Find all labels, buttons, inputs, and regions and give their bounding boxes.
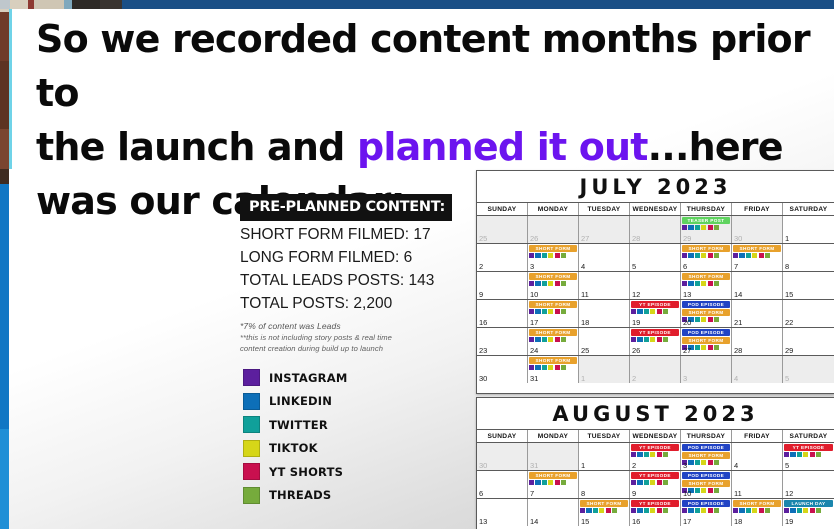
day-number: 30 — [479, 374, 487, 383]
day-number: 1 — [581, 374, 585, 383]
platform-dot — [631, 309, 636, 314]
platform-dot — [555, 480, 560, 485]
calendar-day-cell[interactable]: 6 — [477, 471, 528, 498]
platform-dot — [784, 452, 789, 457]
platform-dot — [714, 317, 719, 322]
calendar-day-cell[interactable]: SHORT FORM13 — [681, 272, 732, 299]
platform-dot — [637, 508, 642, 513]
platform-dot — [759, 508, 764, 513]
platform-dot — [708, 317, 713, 322]
day-number: 3 — [683, 461, 687, 470]
day-number: 16 — [479, 318, 487, 327]
calendar-day-cell[interactable]: YT EPISODE9 — [630, 471, 681, 498]
calendar-day-cell[interactable]: 12 — [783, 471, 834, 498]
platform-dot — [637, 452, 642, 457]
platform-dot — [701, 488, 706, 493]
calendar-week-row: 23SHORT FORM2425YT EPISODE26POD EPISODES… — [477, 328, 834, 356]
platform-dot — [695, 460, 700, 465]
calendar-day-cell[interactable]: 30 — [732, 216, 783, 243]
platform-dot — [593, 508, 598, 513]
headline-line-1: So we recorded content months prior to — [36, 17, 810, 115]
platform-dot-row — [682, 281, 730, 286]
calendar-day-cell[interactable]: SHORT FORM3 — [528, 244, 579, 271]
platform-dot — [701, 317, 706, 322]
platform-dot — [612, 508, 617, 513]
platform-dot — [708, 460, 713, 465]
platform-dot — [555, 309, 560, 314]
platform-dot — [688, 253, 693, 258]
platform-dot — [535, 253, 540, 258]
calendar-day-cell[interactable]: 14 — [528, 499, 579, 526]
platform-dot — [644, 508, 649, 513]
calendar-day-cell[interactable]: 5 — [630, 244, 681, 271]
platform-dot — [631, 337, 636, 342]
platform-dot — [682, 253, 687, 258]
stat-line: TOTAL LEADS POSTS: 143 — [240, 272, 452, 290]
platform-dot — [555, 365, 560, 370]
platform-dot — [535, 337, 540, 342]
platform-dot — [561, 309, 566, 314]
platform-dot — [765, 508, 770, 513]
legend-item-linkedin: LINKEDIN — [243, 390, 347, 414]
day-number: 5 — [632, 262, 636, 271]
calendar-day-cell[interactable]: 28 — [732, 328, 783, 355]
day-number: 28 — [632, 234, 640, 243]
legend-color-swatch — [243, 393, 260, 410]
stat-line: LONG FORM FILMED: 6 — [240, 249, 452, 267]
day-number: 17 — [530, 318, 538, 327]
platform-dot-row — [784, 452, 833, 457]
platform-dot — [561, 480, 566, 485]
day-number: 7 — [530, 489, 534, 498]
calendar-day-cell[interactable]: YT EPISODE26 — [630, 328, 681, 355]
platform-dot — [637, 337, 642, 342]
day-number: 1 — [785, 234, 789, 243]
calendar-day-cell[interactable]: 25 — [579, 328, 630, 355]
calendar-day-cell[interactable]: 21 — [732, 300, 783, 327]
platform-dot — [695, 253, 700, 258]
platform-dot-row — [682, 460, 730, 465]
day-number: 15 — [581, 517, 589, 526]
calendar-day-cell[interactable]: 26 — [528, 216, 579, 243]
platform-dot — [555, 337, 560, 342]
calendar-day-cell[interactable]: SHORT FORM15 — [579, 499, 630, 526]
platform-dot — [637, 309, 642, 314]
day-number: 13 — [683, 290, 691, 299]
calendar-day-cell[interactable]: 30 — [477, 356, 528, 383]
platform-dot — [701, 460, 706, 465]
calendar-day-cell[interactable]: SHORT FORM31 — [528, 356, 579, 383]
platform-dot — [708, 488, 713, 493]
platform-dot — [682, 281, 687, 286]
platform-dot — [529, 253, 534, 258]
stat-line: SHORT FORM FILMED: 17 — [240, 226, 452, 244]
platform-dot — [688, 281, 693, 286]
platform-dot — [644, 337, 649, 342]
event-badge[interactable]: SHORT FORM — [529, 273, 577, 280]
day-number: 8 — [581, 489, 585, 498]
platform-dot — [663, 337, 668, 342]
platform-dot-row — [580, 508, 628, 513]
platform-dot — [701, 253, 706, 258]
day-number: 24 — [530, 346, 538, 355]
platform-dot — [637, 480, 642, 485]
legend-item-yt-shorts: YT SHORTS — [243, 460, 347, 484]
event-badge[interactable]: SHORT FORM — [682, 245, 730, 252]
calendar-day-cell[interactable]: 1 — [579, 356, 630, 383]
calendar-day-cell[interactable]: 13 — [477, 499, 528, 526]
platform-dot — [663, 508, 668, 513]
event-badge[interactable]: POD EPISODE — [682, 329, 730, 336]
calendar-day-cell[interactable]: 12 — [630, 272, 681, 299]
platform-dot — [606, 508, 611, 513]
platform-dot — [580, 508, 585, 513]
event-badge[interactable]: SHORT FORM — [529, 357, 577, 364]
calendar-day-cell[interactable]: 29 — [783, 328, 834, 355]
platform-dot — [657, 480, 662, 485]
platform-dot — [650, 508, 655, 513]
platform-dot — [586, 508, 591, 513]
calendar-day-cell[interactable]: 25 — [477, 216, 528, 243]
footnote: *7% of content was Leads — [240, 321, 452, 332]
event-badge[interactable]: SHORT FORM — [529, 472, 577, 479]
day-number: 27 — [581, 234, 589, 243]
legend-item-label: INSTAGRAM — [269, 371, 347, 385]
legend-item-label: LINKEDIN — [269, 394, 332, 408]
stat-line: TOTAL POSTS: 2,200 — [240, 295, 452, 313]
calendar-day-cell[interactable]: TEASER POST29 — [681, 216, 732, 243]
platform-dot — [650, 337, 655, 342]
calendar-day-cell[interactable]: SHORT FORM7 — [732, 244, 783, 271]
event-badge[interactable]: YT EPISODE — [631, 329, 679, 336]
platform-dot — [701, 508, 706, 513]
day-number: 29 — [683, 234, 691, 243]
platform-dot — [529, 365, 534, 370]
calendar-august: AUGUST 2023 SUNDAYMONDAYTUESDAYWEDNESDAY… — [476, 397, 834, 529]
platform-dot-row — [529, 337, 577, 342]
platform-dot — [714, 345, 719, 350]
event-badge[interactable]: POD EPISODE — [682, 301, 730, 308]
legend-item-instagram: INSTAGRAM — [243, 366, 347, 390]
platform-dot — [561, 253, 566, 258]
legend-item-threads: THREADS — [243, 484, 347, 508]
event-badge[interactable]: SHORT FORM — [682, 337, 730, 344]
platform-dot-row — [631, 452, 679, 457]
event-badge[interactable]: POD EPISODE — [682, 444, 730, 451]
event-badge[interactable]: YT EPISODE — [631, 444, 679, 451]
calendar-day-cell[interactable]: 18 — [579, 300, 630, 327]
calendar-august-dow-row: SUNDAYMONDAYTUESDAYWEDNESDAYTHURSDAYFRID… — [477, 430, 834, 443]
day-number: 2 — [632, 461, 636, 470]
calendar-week-row: 16SHORT FORM1718YT EPISODE19POD EPISODES… — [477, 300, 834, 328]
platform-dot — [759, 253, 764, 258]
calendar-day-cell[interactable]: SHORT FORM10 — [528, 272, 579, 299]
platform-dot — [548, 281, 553, 286]
platform-dot — [548, 309, 553, 314]
calendar-day-cell[interactable]: YT EPISODE2 — [630, 443, 681, 470]
platform-dot — [529, 480, 534, 485]
calendar-day-cell[interactable]: 2 — [477, 244, 528, 271]
platform-dot — [714, 253, 719, 258]
platform-dot — [739, 253, 744, 258]
calendar-day-cell[interactable]: YT EPISODE16 — [630, 499, 681, 526]
calendar-day-cell[interactable]: POD EPISODESHORT FORM10 — [681, 471, 732, 498]
column-header-wednesday: WEDNESDAY — [630, 430, 681, 442]
day-number: 5 — [785, 461, 789, 470]
day-number: 20 — [683, 318, 691, 327]
calendar-day-cell[interactable]: LAUNCH DAY19 — [783, 499, 834, 526]
platform-dot — [542, 337, 547, 342]
platform-dot — [816, 452, 821, 457]
calendar-day-cell[interactable]: 22 — [783, 300, 834, 327]
event-badge[interactable]: LAUNCH DAY — [784, 500, 833, 507]
calendar-day-cell[interactable]: 11 — [732, 471, 783, 498]
calendar-july: JULY 2023 SUNDAYMONDAYTUESDAYWEDNESDAYTH… — [476, 170, 834, 394]
platform-dot — [688, 508, 693, 513]
platform-dot — [561, 365, 566, 370]
platform-dot — [529, 337, 534, 342]
calendar-day-cell[interactable]: 4 — [579, 244, 630, 271]
platform-dot — [790, 508, 795, 513]
calendar-day-cell[interactable]: 5 — [783, 356, 834, 383]
column-header-thursday: THURSDAY — [681, 203, 732, 215]
platform-dot — [765, 253, 770, 258]
platform-dot — [599, 508, 604, 513]
platform-dot — [644, 309, 649, 314]
event-badge[interactable]: YT EPISODE — [784, 444, 833, 451]
event-badge[interactable]: POD EPISODE — [682, 472, 730, 479]
day-number: 25 — [581, 346, 589, 355]
calendar-week-row: 6SHORT FORM78YT EPISODE9POD EPISODESHORT… — [477, 471, 834, 499]
calendar-day-cell[interactable]: YT EPISODE5 — [783, 443, 834, 470]
event-badge[interactable]: SHORT FORM — [682, 309, 730, 316]
calendar-day-cell[interactable]: 31 — [528, 443, 579, 470]
platform-dot-row — [733, 253, 781, 258]
platform-dot — [650, 480, 655, 485]
calendar-day-cell[interactable]: SHORT FORM17 — [528, 300, 579, 327]
platform-dot — [708, 345, 713, 350]
platform-dot — [803, 452, 808, 457]
platform-dot — [746, 253, 751, 258]
platform-dot — [548, 253, 553, 258]
platform-dot — [548, 365, 553, 370]
platform-dot — [535, 309, 540, 314]
calendar-day-cell[interactable]: 23 — [477, 328, 528, 355]
calendar-day-cell[interactable]: SHORT FORM24 — [528, 328, 579, 355]
platform-dot — [631, 452, 636, 457]
column-header-saturday: SATURDAY — [783, 203, 834, 215]
platform-dot — [688, 225, 693, 230]
event-badge[interactable]: YT EPISODE — [631, 301, 679, 308]
legend-color-swatch — [243, 487, 260, 504]
platform-dot — [535, 365, 540, 370]
platform-dot — [657, 508, 662, 513]
day-number: 8 — [785, 262, 789, 271]
platform-dot-row — [682, 253, 730, 258]
day-number: 4 — [734, 461, 738, 470]
headline-accent-phrase: planned it out — [357, 125, 648, 169]
legend-color-swatch — [243, 416, 260, 433]
platform-dot — [682, 508, 687, 513]
event-badge[interactable]: SHORT FORM — [733, 245, 781, 252]
platform-dot — [784, 508, 789, 513]
stats-footnotes: *7% of content was Leads**this is not in… — [240, 321, 452, 354]
platform-dot — [708, 253, 713, 258]
calendar-day-cell[interactable]: 27 — [579, 216, 630, 243]
event-badge[interactable]: SHORT FORM — [529, 301, 577, 308]
calendar-day-cell[interactable]: 4 — [732, 356, 783, 383]
calendar-july-title: JULY 2023 — [477, 171, 834, 203]
calendar-week-row: 30311YT EPISODE2POD EPISODESHORT FORM34Y… — [477, 443, 834, 471]
platform-dot — [650, 309, 655, 314]
platform-dot-row — [631, 309, 679, 314]
event-badge[interactable]: SHORT FORM — [529, 245, 577, 252]
calendar-day-cell[interactable]: 11 — [579, 272, 630, 299]
calendar-day-cell[interactable]: SHORT FORM6 — [681, 244, 732, 271]
calendar-day-cell[interactable]: 9 — [477, 272, 528, 299]
platform-dot — [816, 508, 821, 513]
calendar-july-dow-row: SUNDAYMONDAYTUESDAYWEDNESDAYTHURSDAYFRID… — [477, 203, 834, 216]
day-number: 10 — [530, 290, 538, 299]
left-edge-accent-line — [9, 9, 12, 169]
event-badge[interactable]: YT EPISODE — [631, 472, 679, 479]
calendar-day-cell[interactable]: SHORT FORM7 — [528, 471, 579, 498]
pre-planned-content-panel: PRE-PLANNED CONTENT: SHORT FORM FILMED: … — [240, 194, 452, 354]
calendar-day-cell[interactable]: 1 — [579, 443, 630, 470]
calendar-day-cell[interactable]: 8 — [579, 471, 630, 498]
platform-dot — [644, 480, 649, 485]
platform-dot-row — [631, 480, 679, 485]
day-number: 21 — [734, 318, 742, 327]
day-number: 23 — [479, 346, 487, 355]
platform-dot — [555, 281, 560, 286]
platform-dot — [650, 452, 655, 457]
platform-dot — [695, 488, 700, 493]
calendar-day-cell[interactable]: 3 — [681, 356, 732, 383]
event-badge[interactable]: SHORT FORM — [580, 500, 628, 507]
day-number: 18 — [734, 517, 742, 526]
platform-dot-row — [682, 225, 730, 230]
event-badge[interactable]: SHORT FORM — [682, 452, 730, 459]
calendar-day-cell[interactable]: 8 — [783, 244, 834, 271]
calendar-august-weeks: 30311YT EPISODE2POD EPISODESHORT FORM34Y… — [477, 443, 834, 526]
calendar-day-cell[interactable]: SHORT FORM18 — [732, 499, 783, 526]
platform-dot — [695, 225, 700, 230]
platform-dot — [701, 225, 706, 230]
legend-item-label: YT SHORTS — [269, 465, 343, 479]
day-number: 5 — [785, 374, 789, 383]
day-number: 4 — [734, 374, 738, 383]
platform-dot — [657, 309, 662, 314]
calendar-day-cell[interactable]: 16 — [477, 300, 528, 327]
platform-legend: INSTAGRAMLINKEDINTWITTERTIKTOKYT SHORTST… — [243, 366, 347, 507]
window-top-edge-strip — [0, 0, 834, 9]
calendar-day-cell[interactable]: POD EPISODE17 — [681, 499, 732, 526]
platform-dot — [695, 317, 700, 322]
platform-dot — [542, 480, 547, 485]
platform-dot — [701, 281, 706, 286]
platform-dot-row — [529, 365, 577, 370]
platform-dot — [657, 337, 662, 342]
day-number: 28 — [734, 346, 742, 355]
platform-dot — [746, 508, 751, 513]
calendar-day-cell[interactable]: 15 — [783, 272, 834, 299]
platform-dot — [561, 337, 566, 342]
platform-dot — [695, 281, 700, 286]
platform-dot — [663, 309, 668, 314]
platform-dot — [752, 253, 757, 258]
day-number: 17 — [683, 517, 691, 526]
platform-dot — [733, 253, 738, 258]
event-badge[interactable]: POD EPISODE — [682, 500, 730, 507]
platform-dot — [644, 452, 649, 457]
column-header-monday: MONDAY — [528, 203, 579, 215]
event-badge[interactable]: YT EPISODE — [631, 500, 679, 507]
calendar-day-cell[interactable]: 30 — [477, 443, 528, 470]
day-number: 26 — [530, 234, 538, 243]
legend-color-swatch — [243, 440, 260, 457]
calendar-day-cell[interactable]: YT EPISODE19 — [630, 300, 681, 327]
day-number: 22 — [785, 318, 793, 327]
day-number: 19 — [785, 517, 793, 526]
platform-dot — [810, 508, 815, 513]
day-number: 14 — [530, 517, 538, 526]
day-number: 14 — [734, 290, 742, 299]
calendar-day-cell[interactable]: 1 — [783, 216, 834, 243]
day-number: 15 — [785, 290, 793, 299]
calendar-day-cell[interactable]: POD EPISODESHORT FORM20 — [681, 300, 732, 327]
platform-dot — [631, 508, 636, 513]
day-number: 19 — [632, 318, 640, 327]
event-badge[interactable]: SHORT FORM — [682, 480, 730, 487]
platform-dot-row — [682, 508, 730, 513]
top-thumbnail-strip — [0, 0, 122, 9]
column-header-sunday: SUNDAY — [477, 203, 528, 215]
calendar-week-row: 2SHORT FORM345SHORT FORM6SHORT FORM78 — [477, 244, 834, 272]
calendar-day-cell[interactable]: POD EPISODESHORT FORM27 — [681, 328, 732, 355]
column-header-saturday: SATURDAY — [783, 430, 834, 442]
platform-dot — [708, 281, 713, 286]
legend-item-label: TIKTOK — [269, 441, 318, 455]
event-badge[interactable]: TEASER POST — [682, 217, 730, 224]
platform-dot — [542, 253, 547, 258]
event-badge[interactable]: SHORT FORM — [682, 273, 730, 280]
platform-dot — [714, 281, 719, 286]
legend-item-label: TWITTER — [269, 418, 328, 432]
platform-dot-row — [529, 480, 577, 485]
calendar-day-cell[interactable]: POD EPISODESHORT FORM3 — [681, 443, 732, 470]
calendar-day-cell[interactable]: 4 — [732, 443, 783, 470]
calendar-day-cell[interactable]: 2 — [630, 356, 681, 383]
event-badge[interactable]: SHORT FORM — [733, 500, 781, 507]
day-number: 10 — [683, 489, 691, 498]
day-number: 9 — [479, 290, 483, 299]
calendar-day-cell[interactable]: 14 — [732, 272, 783, 299]
calendar-day-cell[interactable]: 28 — [630, 216, 681, 243]
column-header-sunday: SUNDAY — [477, 430, 528, 442]
day-number: 9 — [632, 489, 636, 498]
platform-dot — [701, 345, 706, 350]
headline-line-2c: ...here — [648, 125, 783, 169]
day-number: 11 — [581, 290, 589, 299]
stats-list: SHORT FORM FILMED: 17LONG FORM FILMED: 6… — [240, 226, 452, 313]
event-badge[interactable]: SHORT FORM — [529, 329, 577, 336]
platform-dot — [657, 452, 662, 457]
day-number: 6 — [479, 489, 483, 498]
platform-dot — [561, 281, 566, 286]
calendar-week-row: 1314SHORT FORM15YT EPISODE16POD EPISODE1… — [477, 499, 834, 526]
calendar-august-title: AUGUST 2023 — [477, 398, 834, 430]
